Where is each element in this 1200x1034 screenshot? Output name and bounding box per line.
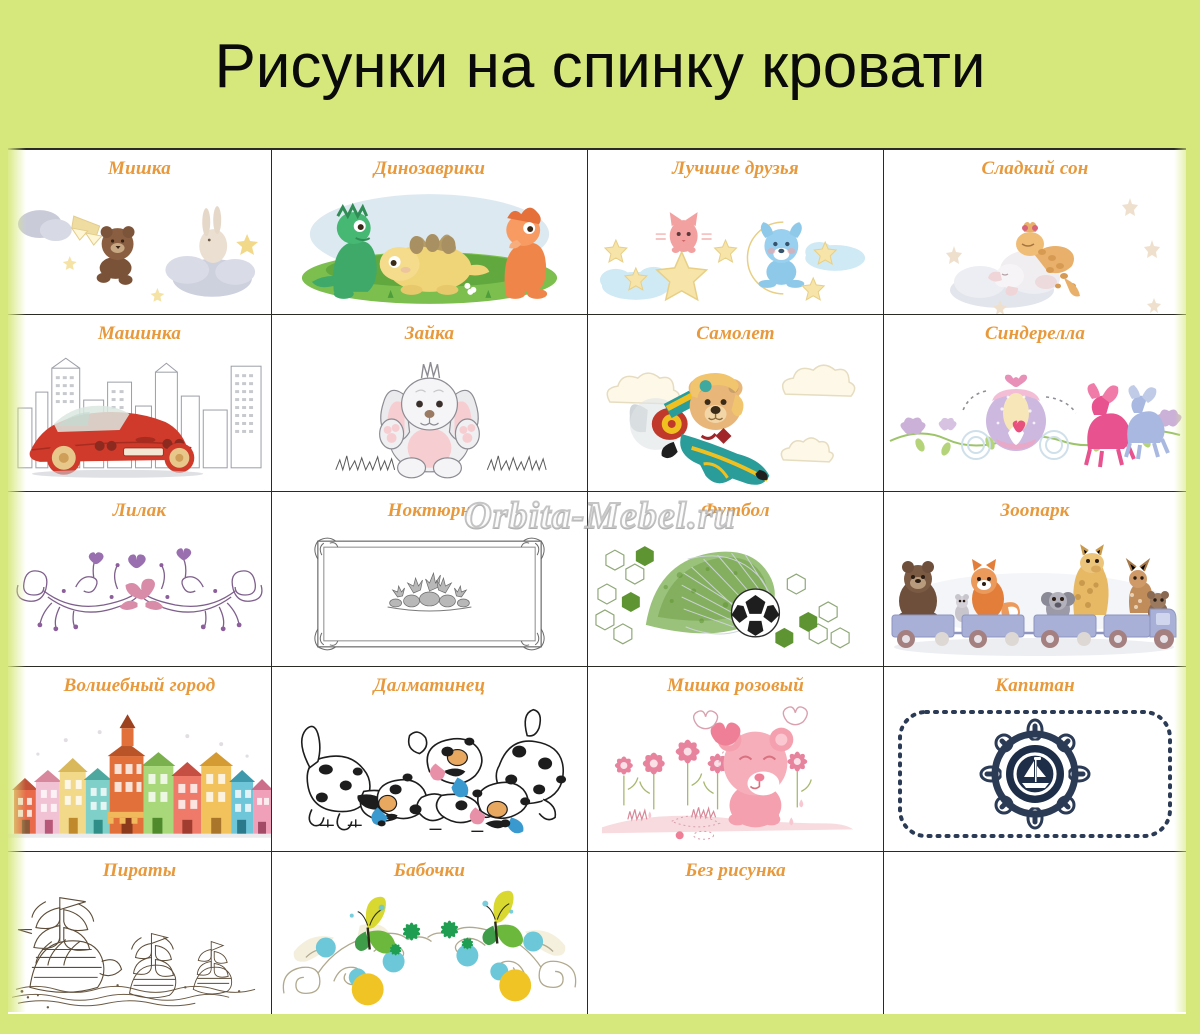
design-label: Далматинец (374, 675, 486, 697)
design-cell-piraty[interactable]: Пираты (8, 852, 272, 1014)
art-none (884, 860, 1186, 1014)
art-colorful-houses (8, 697, 271, 851)
design-label: Сладкий сон (981, 158, 1088, 180)
design-cell-dalmatinets[interactable]: Далматинец (272, 667, 588, 852)
design-label: Ноктюрн (388, 500, 472, 522)
art-dinosaurs (272, 180, 587, 314)
design-cell-dinozavriki[interactable]: Динозаврики (272, 150, 588, 315)
poster-root: Рисунки на спинку кровати Мишка (0, 0, 1200, 1034)
art-football-goal (588, 522, 883, 666)
design-label: Капитан (995, 675, 1075, 697)
design-cell-mishka-rozovyy[interactable]: Мишка розовый (588, 667, 884, 852)
design-label: Футбол (701, 500, 770, 522)
art-grey-bunny (272, 345, 587, 491)
design-cell-futbol[interactable]: Футбол (588, 492, 884, 667)
design-cell-empty (884, 852, 1186, 1014)
design-cell-volshebnyy-gorod[interactable]: Волшебный город (8, 667, 272, 852)
page-title-bar: Рисунки на спинку кровати (0, 0, 1200, 148)
design-label: Лилак (113, 500, 166, 522)
design-cell-zoopark[interactable]: Зоопарк (884, 492, 1186, 667)
art-ship-wheel-sailboat (884, 697, 1186, 851)
art-teddy-moon-bunny (8, 180, 271, 314)
art-butterflies-swirls (272, 882, 587, 1014)
design-cell-sinderella[interactable]: Синдерелла (884, 315, 1186, 492)
design-cell-zayka[interactable]: Зайка (272, 315, 588, 492)
design-label: Без рисунка (685, 860, 786, 882)
design-cell-lilak[interactable]: Лилак (8, 492, 272, 667)
page-title: Рисунки на спинку кровати (214, 36, 985, 112)
art-lilac-swirl-ornament (8, 522, 271, 666)
art-pirate-ships (8, 882, 271, 1014)
designs-grid: Мишка (8, 148, 1186, 1012)
art-red-car-city (8, 345, 271, 491)
design-cell-samolet[interactable]: Самолет (588, 315, 884, 492)
art-bear-airplane (588, 345, 883, 491)
art-framed-floral-panel (272, 522, 587, 666)
design-label: Синдерелла (985, 323, 1085, 345)
design-cell-mishka[interactable]: Мишка (8, 150, 272, 315)
design-cell-noktyurn[interactable]: Ноктюрн (272, 492, 588, 667)
design-cell-luchshie-druzya[interactable]: Лучшие друзья (588, 150, 884, 315)
art-none (588, 882, 883, 1014)
design-cell-babochki[interactable]: Бабочки (272, 852, 588, 1014)
design-cell-sladkiy-son[interactable]: Сладкий сон (884, 150, 1186, 315)
design-cell-kapitan[interactable]: Капитан (884, 667, 1186, 852)
design-label: Зоопарк (1000, 500, 1069, 522)
art-carriage-horses (884, 345, 1186, 491)
design-label: Мишка (108, 158, 171, 180)
art-dalmatian-puppies (272, 697, 587, 851)
design-label: Мишка розовый (667, 675, 804, 697)
design-cell-bez-risunka[interactable]: Без рисунка (588, 852, 884, 1014)
art-giraffe-elephant-moon (884, 180, 1186, 314)
design-label: Динозаврики (374, 158, 485, 180)
design-label: Самолет (696, 323, 774, 345)
design-label: Пираты (103, 860, 177, 882)
art-cat-dog-star-moon (588, 180, 883, 314)
design-label: Зайка (405, 323, 454, 345)
design-label: Бабочки (394, 860, 465, 882)
art-animal-train (884, 522, 1186, 666)
design-label: Машинка (98, 323, 181, 345)
design-label: Волшебный город (64, 675, 216, 697)
design-label: Лучшие друзья (672, 158, 799, 180)
design-cell-mashinka[interactable]: Машинка (8, 315, 272, 492)
art-pink-bear-flowers (588, 697, 883, 851)
